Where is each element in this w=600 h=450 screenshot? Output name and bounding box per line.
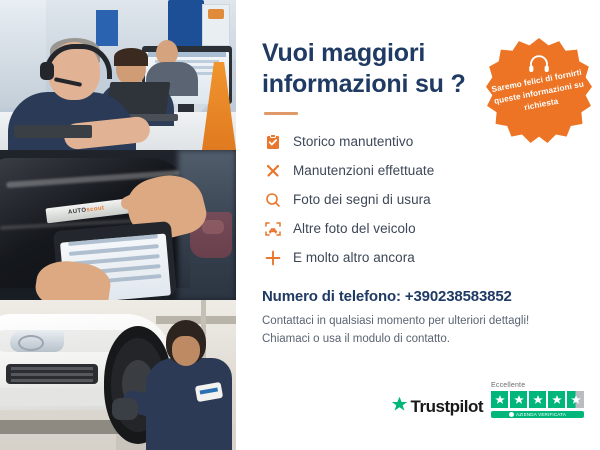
star-filled-2 (510, 391, 527, 408)
list-item: E molto altro ancora (262, 243, 576, 272)
photo-column: AUTOscout (0, 0, 236, 450)
plus-icon (262, 248, 284, 268)
contact-note: Contattaci in qualsiasi momento per ulte… (262, 313, 576, 349)
trustpilot-rating: Eccellente AZIENDA VERIFICATA (491, 382, 584, 418)
call-center-photo (0, 0, 236, 150)
contact-note-line-2: Chiamaci o usa il modulo di contatto. (262, 331, 576, 349)
list-item: Altre foto del veicolo (262, 214, 576, 243)
photo-poster (202, 4, 230, 46)
magnifier-icon (262, 190, 284, 210)
vehicle-inspection-photo: AUTOscout (0, 150, 236, 300)
features-list: Storico manutentivo Manutenzioni effettu… (262, 127, 576, 272)
photo-grille (6, 364, 98, 384)
list-item-label: E molto altro ancora (293, 250, 415, 265)
star-filled-3 (529, 391, 546, 408)
star-filled-1 (491, 391, 508, 408)
trustpilot-logo: Trustpilot (391, 396, 483, 418)
photo-blue-panel-2 (96, 10, 118, 46)
title-divider (264, 112, 298, 115)
star-filled-4 (548, 391, 565, 408)
list-item-label: Storico manutentivo (293, 134, 413, 149)
contact-note-line-1: Contattaci in qualsiasi momento per ulte… (262, 313, 576, 331)
phone-number[interactable]: Numero di telefono: +390238583852 (262, 288, 576, 305)
list-item: Manutenzioni effettuate (262, 156, 576, 185)
trustpilot-stars (491, 391, 584, 408)
photo-car-lift (0, 420, 120, 434)
trustpilot-rating-label: Eccellente (491, 382, 525, 389)
photo-agent-headset-cup (40, 62, 54, 80)
trustpilot-widget[interactable]: Trustpilot Eccellente AZIENDA VERIFICATA (391, 382, 584, 418)
star-half-5 (567, 391, 584, 408)
check-circle-icon (509, 412, 514, 417)
photo-mechanic-glove (112, 398, 138, 420)
trustpilot-verified-badge: AZIENDA VERIFICATA (491, 411, 584, 418)
car-scan-icon (262, 219, 284, 239)
tools-cross-icon (262, 161, 284, 181)
list-item-label: Foto dei segni di usura (293, 192, 431, 207)
photo-keyboard (14, 125, 92, 138)
content-panel: Vuoi maggiori informazioni su ? Storico … (236, 0, 600, 450)
advertisement-banner: AUTOscout (0, 0, 600, 450)
trustpilot-verified-label: AZIENDA VERIFICATA (516, 412, 566, 417)
photo-headlight (10, 330, 64, 352)
garage-wheel-service-photo (0, 300, 236, 450)
clipboard-check-icon (262, 132, 284, 152)
trustpilot-name: Trustpilot (411, 397, 483, 417)
list-item-label: Altre foto del veicolo (293, 221, 416, 236)
list-item: Foto dei segni di usura (262, 185, 576, 214)
photo-blue-panel (168, 0, 204, 46)
photo-monitor-stand (178, 104, 194, 112)
trustpilot-star-icon (391, 396, 408, 418)
list-item-label: Manutenzioni effettuate (293, 163, 434, 178)
photo-mechanic-face (172, 336, 200, 366)
photo-colleague-hair (114, 48, 148, 66)
callout-badge: Saremo felici di fornirti queste informa… (486, 38, 592, 144)
page-title: Vuoi maggiori informazioni su ? (262, 38, 487, 99)
